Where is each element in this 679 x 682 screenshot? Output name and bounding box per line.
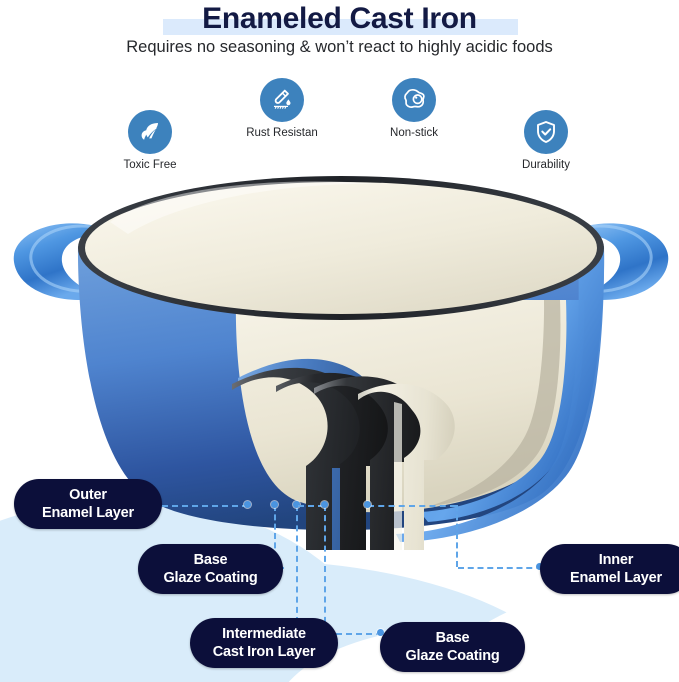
header: Enameled Cast Iron [0,2,679,36]
feature-icon-circle [128,110,172,154]
callout-base-glaze-coating-top[interactable]: Base Glaze Coating [138,544,283,594]
callout-line-2: Glaze Coating [156,569,265,587]
feature-icon-circle [260,78,304,122]
callout-line-1: Outer [32,486,144,504]
page-title: Enameled Cast Iron [0,2,679,36]
test-tube-droplet-icon [269,87,295,113]
feature-icon-circle [524,110,568,154]
callout-line-2: Glaze Coating [398,647,507,665]
feature-non-stick: Non-stick [354,78,474,139]
feature-label: Non-stick [354,127,474,139]
leaf-icon [137,119,163,145]
callout-base-glaze-coating-bottom[interactable]: Base Glaze Coating [380,622,525,672]
callout-line-1: Base [398,629,507,647]
callout-line-2: Cast Iron Layer [208,643,320,661]
callout-line-2: Enamel Layer [558,569,674,587]
callout-line-1: Intermediate [208,625,320,643]
callout-line-2: Enamel Layer [32,504,144,522]
feature-rust-resistan: Rust Resistan [222,78,342,139]
callout-line-1: Inner [558,551,674,569]
product-infographic: Enameled Cast Iron Requires no seasoning… [0,0,679,682]
page-subtitle: Requires no seasoning & won’t react to h… [0,36,679,58]
callout-inner-enamel-layer[interactable]: Inner Enamel Layer [540,544,679,594]
callout-outer-enamel-layer[interactable]: Outer Enamel Layer [14,479,162,529]
shield-check-icon [533,119,559,145]
callout-line-1: Base [156,551,265,569]
feature-label: Rust Resistan [222,127,342,139]
callout-intermediate-cast-iron-layer[interactable]: Intermediate Cast Iron Layer [190,618,338,668]
feature-icon-circle [392,78,436,122]
fried-egg-icon [400,86,428,114]
